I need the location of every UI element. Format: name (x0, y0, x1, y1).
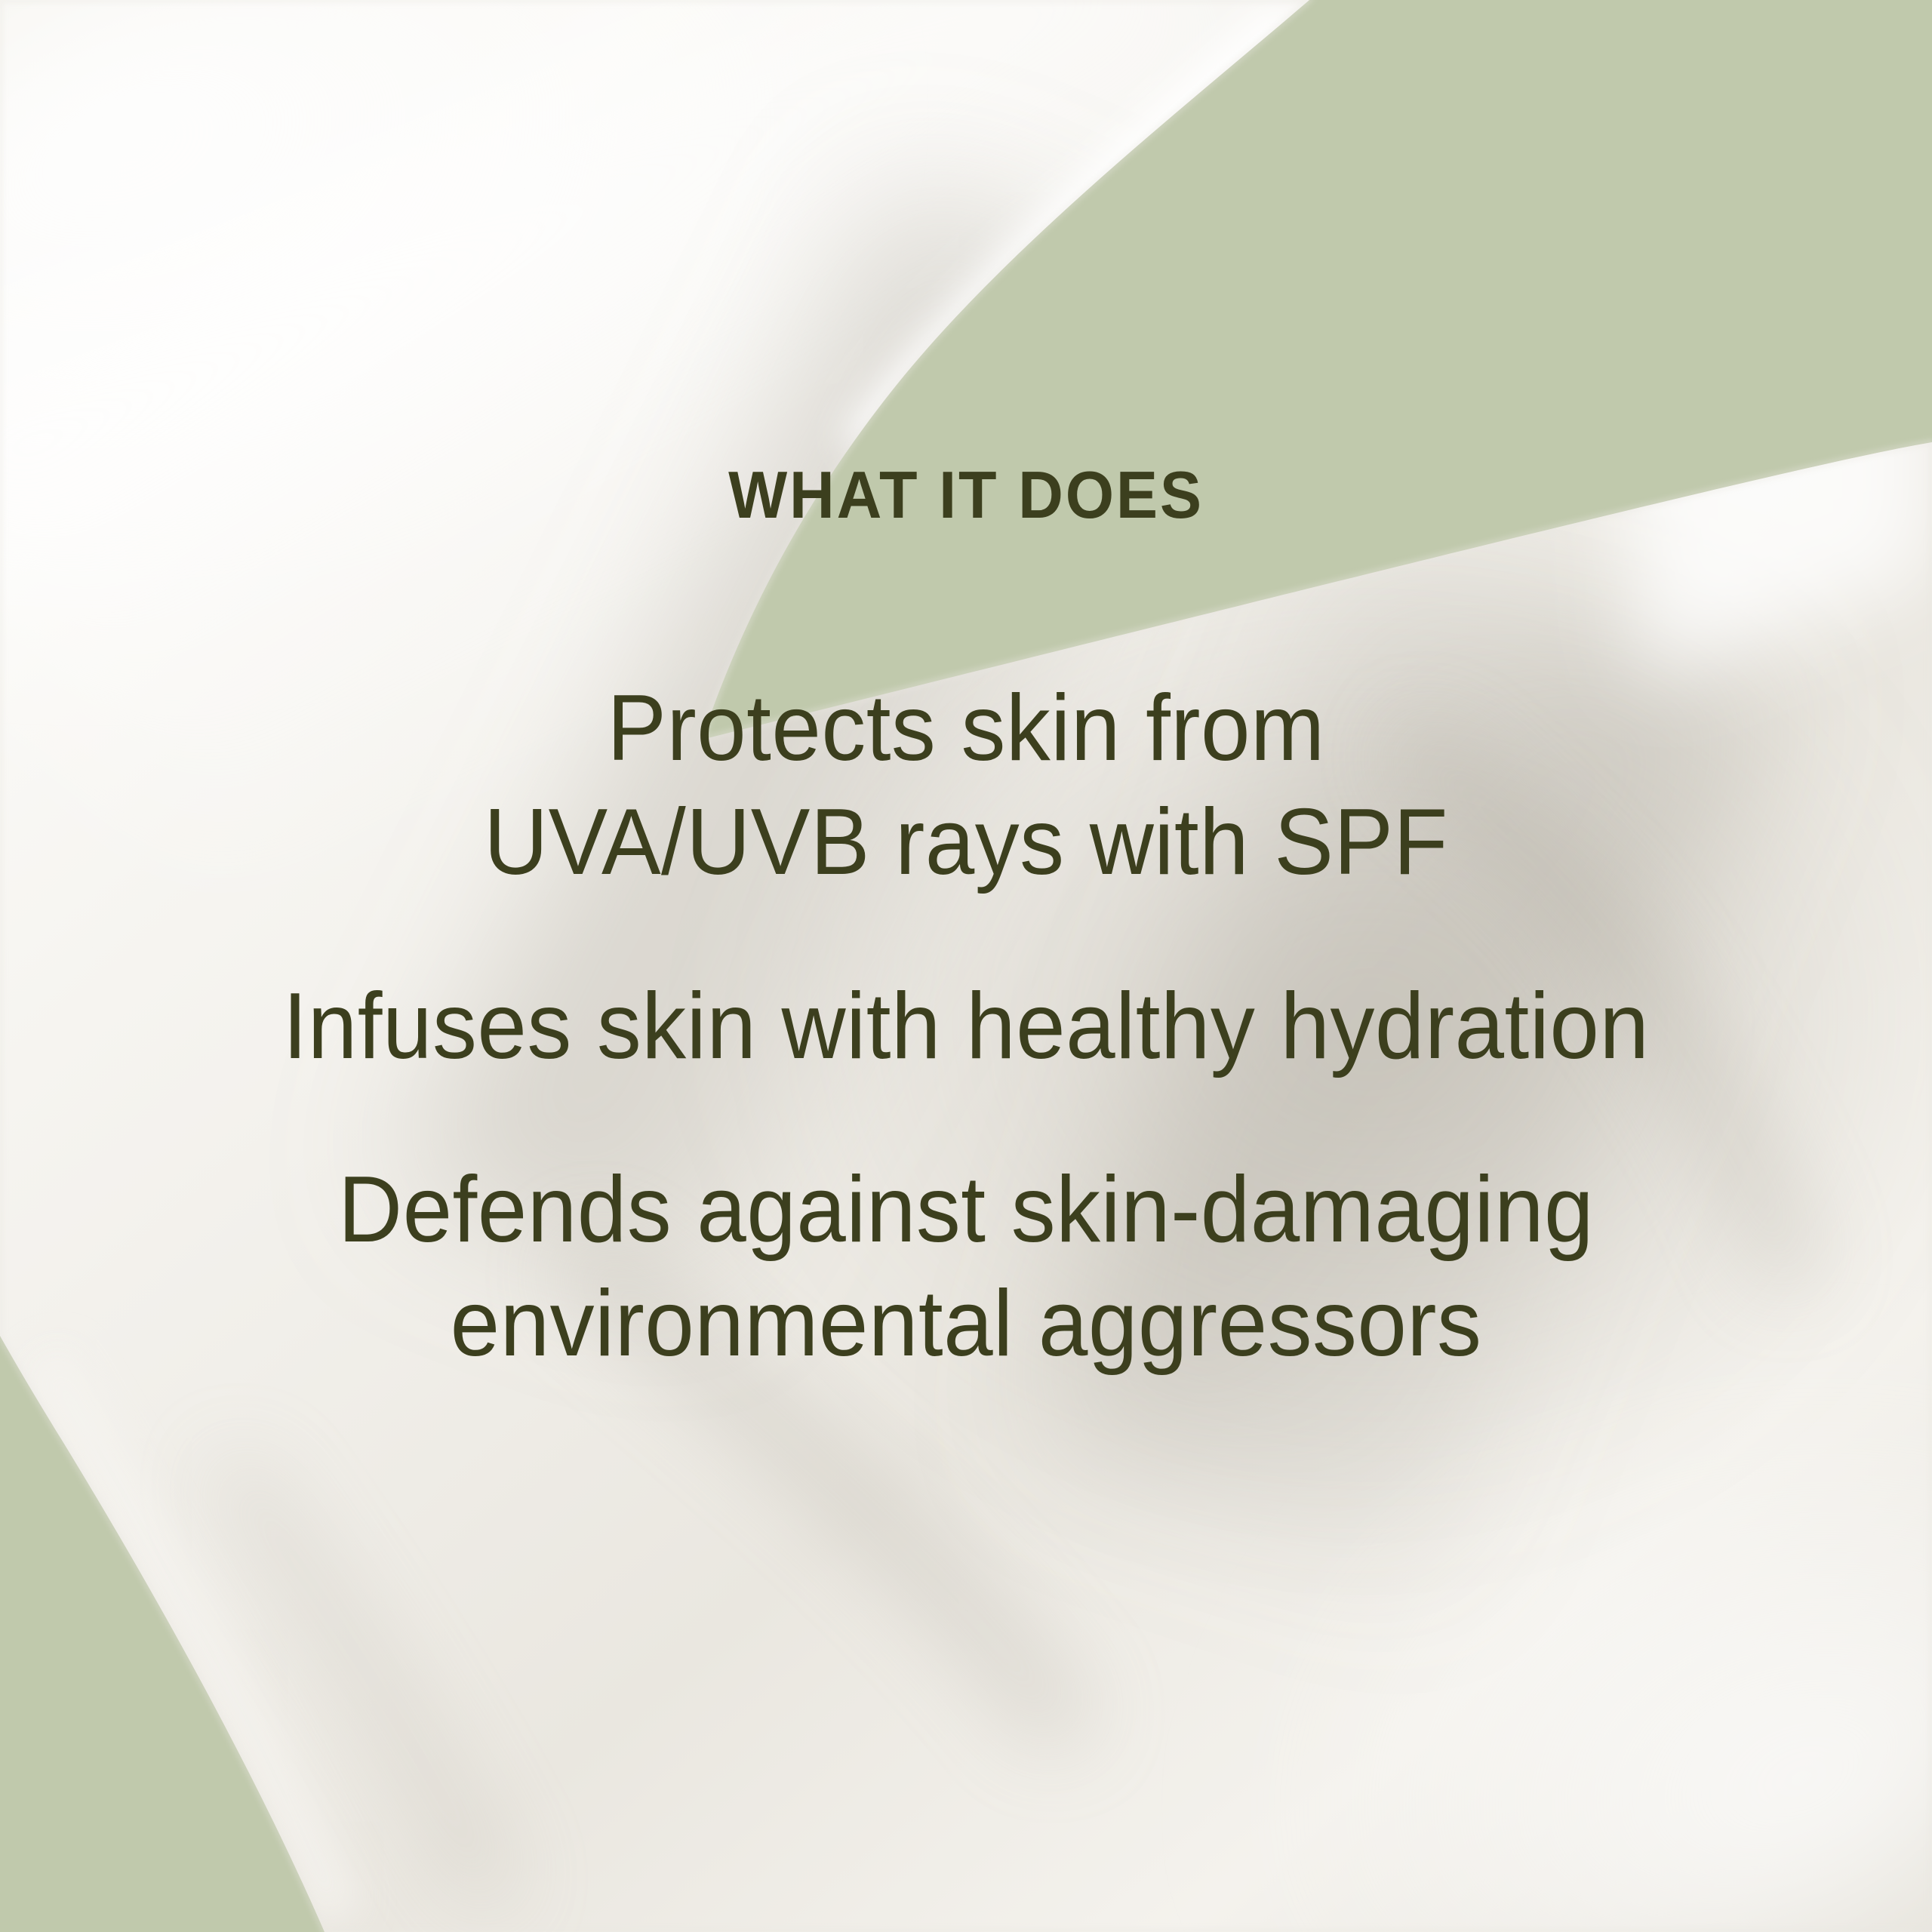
benefit-item-environmental-defense: Defends against skin-damaging environmen… (48, 1153, 1884, 1382)
benefit-line: Defends against skin-damaging (48, 1153, 1884, 1267)
benefit-line: UVA/UVB rays with SPF (48, 786, 1884, 900)
benefits-list: Protects skin from UVA/UVB rays with SPF… (0, 672, 1932, 1381)
content-layer: WHAT IT DOES Protects skin from UVA/UVB … (0, 0, 1932, 1932)
benefit-item-uv-protection: Protects skin from UVA/UVB rays with SPF (48, 672, 1884, 900)
benefit-line: Protects skin from (48, 672, 1884, 786)
product-benefit-graphic: WHAT IT DOES Protects skin from UVA/UVB … (0, 0, 1932, 1932)
section-heading: WHAT IT DOES (58, 462, 1874, 528)
benefit-line: Infuses skin with healthy hydration (48, 970, 1884, 1084)
benefit-item-hydration: Infuses skin with healthy hydration (48, 970, 1884, 1084)
benefit-line: environmental aggressors (48, 1267, 1884, 1381)
